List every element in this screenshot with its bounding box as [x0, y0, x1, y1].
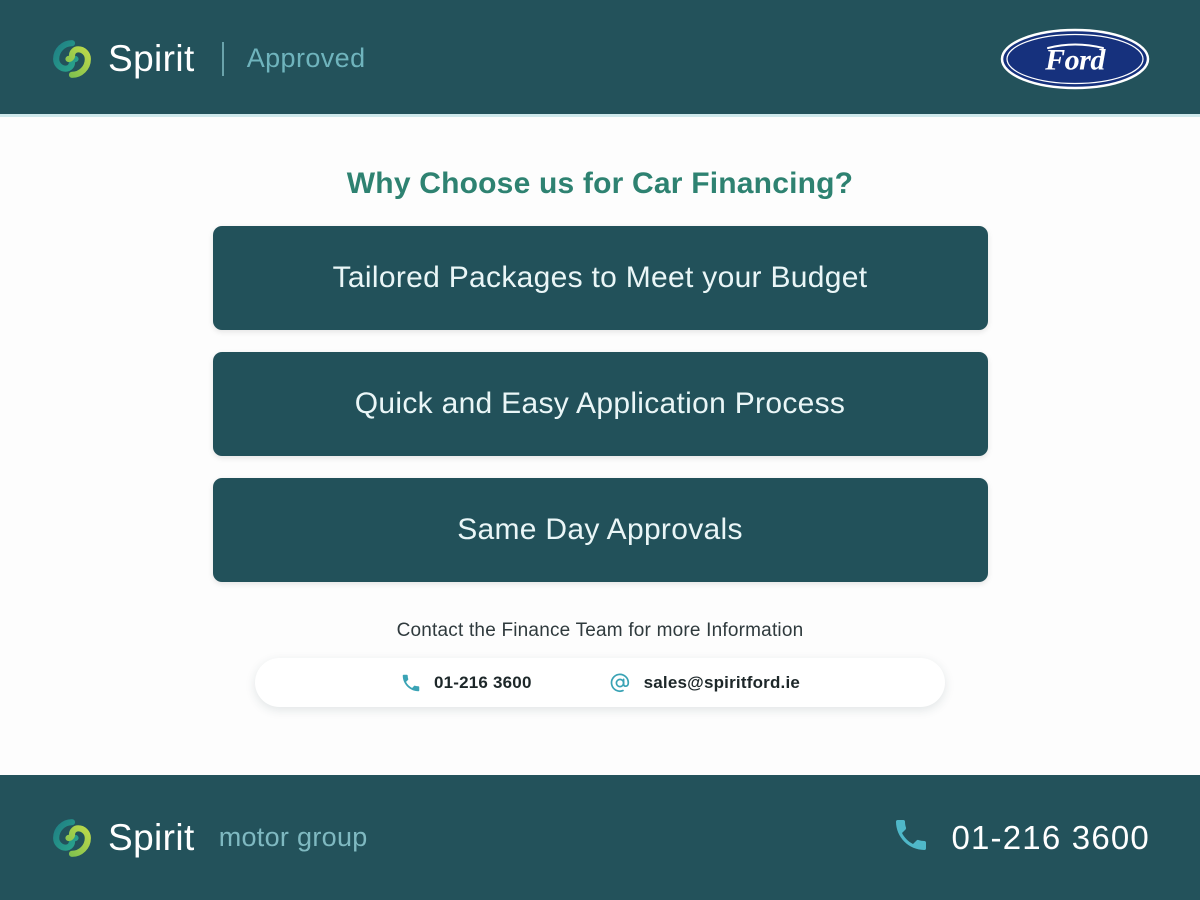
contact-note: Contact the Finance Team for more Inform…: [397, 620, 804, 642]
feature-card[interactable]: Quick and Easy Application Process: [213, 352, 988, 456]
spirit-spiral-logo-icon: [50, 816, 94, 860]
page-header: Spirit Approved Ford: [0, 0, 1200, 117]
footer-phone-number: 01-216 3600: [951, 819, 1150, 857]
contact-email[interactable]: sales@spiritford.ie: [608, 671, 800, 695]
contact-bar: 01-216 3600 sales@spiritford.ie: [255, 658, 945, 707]
footer-brand-name: Spirit: [108, 819, 195, 856]
footer-brand-subtitle: motor group: [219, 824, 368, 851]
footer-phone[interactable]: 01-216 3600: [891, 815, 1150, 860]
brand-divider: [222, 42, 224, 76]
ford-oval-logo-icon: Ford: [1000, 28, 1150, 90]
brand-name: Spirit: [108, 40, 195, 77]
feature-card[interactable]: Same Day Approvals: [213, 478, 988, 582]
phone-number: 01-216 3600: [434, 673, 532, 693]
page-footer: Spirit motor group 01-216 3600: [0, 775, 1200, 900]
contact-phone[interactable]: 01-216 3600: [400, 672, 532, 694]
at-sign-icon: [608, 671, 632, 695]
brand-lockup-header: Spirit Approved: [50, 37, 365, 81]
svg-text:Ford: Ford: [1044, 43, 1106, 76]
main-content: Why Choose us for Car Financing? Tailore…: [0, 117, 1200, 775]
phone-icon: [400, 672, 422, 694]
feature-card-list: Tailored Packages to Meet your Budget Qu…: [213, 226, 988, 582]
feature-card[interactable]: Tailored Packages to Meet your Budget: [213, 226, 988, 330]
slide-root: Spirit Approved Ford Why Choose us for C…: [0, 0, 1200, 900]
brand-subtitle: Approved: [247, 45, 366, 72]
spirit-spiral-logo-icon: [50, 37, 94, 81]
brand-lockup-footer: Spirit motor group: [50, 816, 368, 860]
phone-icon: [891, 815, 931, 860]
page-title: Why Choose us for Car Financing?: [347, 167, 853, 201]
email-address: sales@spiritford.ie: [644, 673, 800, 693]
